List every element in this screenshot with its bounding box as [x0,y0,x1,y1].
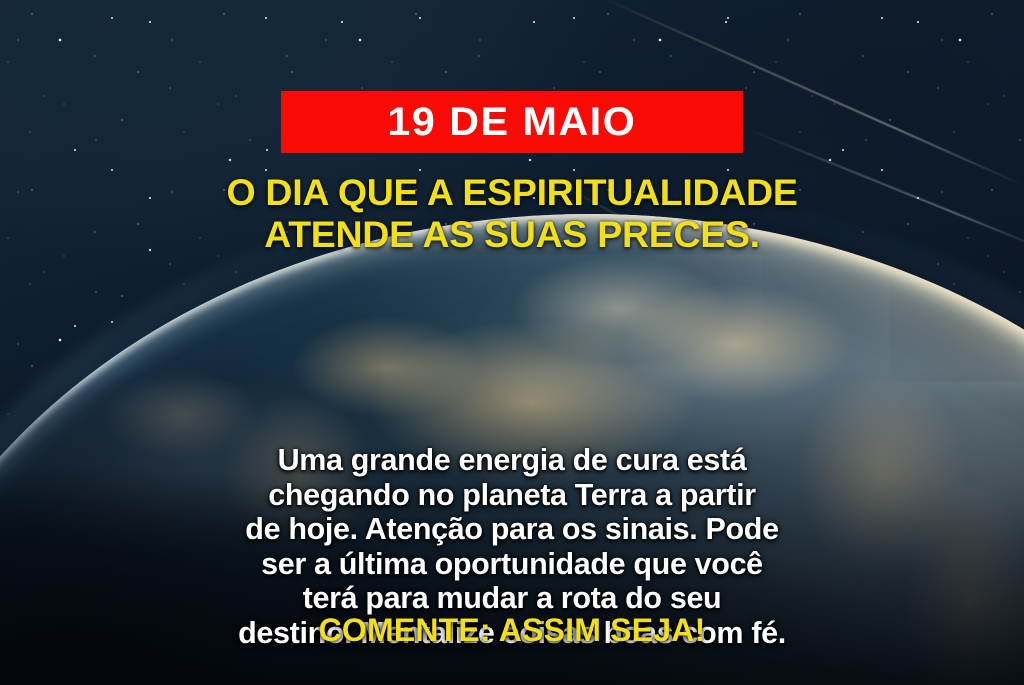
headline-line-1: O DIA QUE A ESPIRITUALIDADE [226,171,797,213]
body-line: ser a última oportunidade que você [46,547,978,582]
call-to-action: COMENTE: ASSIM SEJA! [0,612,1024,649]
headline: O DIA QUE A ESPIRITUALIDADE ATENDE AS SU… [186,171,837,255]
poster-content: 19 DE MAIO O DIA QUE A ESPIRITUALIDADE A… [0,0,1024,685]
body-line: terá para mudar a rota do seu [46,581,978,616]
date-banner-label: 19 DE MAIO [388,102,637,142]
headline-line-2: ATENDE AS SUAS PRECES. [226,213,797,255]
date-banner: 19 DE MAIO [281,91,743,153]
body-line: Uma grande energia de cura está [46,443,978,478]
call-to-action-label: COMENTE: ASSIM SEJA! [319,612,706,648]
body-line: de hoje. Atenção para os sinais. Pode [46,512,978,547]
poster-canvas: 19 DE MAIO O DIA QUE A ESPIRITUALIDADE A… [0,0,1024,685]
body-line: chegando no planeta Terra a partir [46,478,978,513]
